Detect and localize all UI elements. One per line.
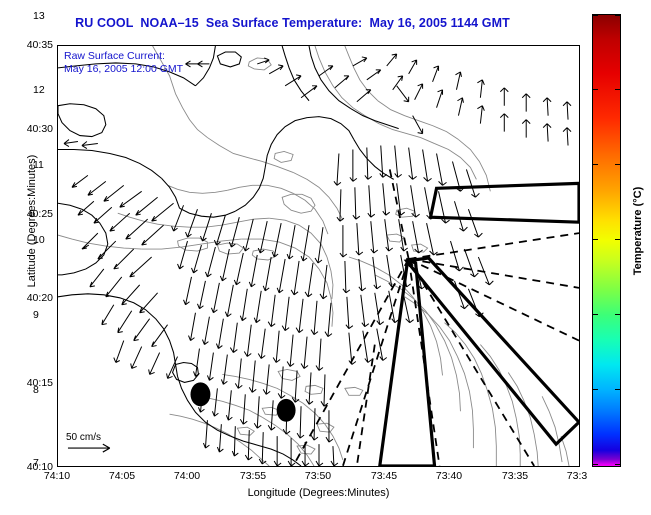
x-tick: 73:3 [547,470,607,482]
y-tick: 40:15 [7,377,53,389]
map-plot-area: Raw Surface Current: May 16, 2005 12:00 … [57,45,580,467]
x-tick: 73:45 [354,470,414,482]
colorbar-tick: 10 [33,234,45,246]
scale-reference-arrow [68,444,110,452]
annotation-line-1: Raw Surface Current: [64,50,165,63]
radar-coverage-wedges [380,183,579,466]
x-tick: 73:55 [223,470,283,482]
radar-station-markers [190,382,295,421]
colorbar [592,14,621,467]
surface-current-vectors [64,54,571,466]
x-tick: 73:35 [485,470,545,482]
x-tick: 73:50 [288,470,348,482]
x-axis-ticks: 74:10 74:05 74:00 73:55 73:50 73:45 73:4… [57,470,580,486]
scale-bar-label: 50 cm/s [66,432,101,443]
y-axis-label: Latitude (Degrees:Minutes) [26,101,38,341]
x-tick: 74:00 [157,470,217,482]
x-tick: 74:10 [27,470,87,482]
colorbar-tick: 11 [33,159,44,171]
colorbar-tick: 7 [33,457,39,469]
x-tick: 74:05 [92,470,152,482]
isotherm-contours [58,46,569,466]
x-axis-label: Longitude (Degrees:Minutes) [57,487,580,499]
map-vector-layer [58,46,579,466]
colorbar-tick: 12 [33,84,45,96]
colorbar-tick: 13 [33,10,45,22]
colorbar-tick: 8 [33,384,39,396]
colorbar-label: Temperature (°C) [632,131,644,331]
annotation-line-2: May 16, 2005 12:00 GMT [64,63,183,76]
figure-title: RU COOL NOAA–15 Sea Surface Temperature:… [0,16,585,30]
colorbar-gradient [593,15,620,466]
x-tick: 73:40 [419,470,479,482]
sst-map-figure: RU COOL NOAA–15 Sea Surface Temperature:… [0,0,651,515]
y-tick: 40:35 [7,39,53,51]
colorbar-tick: 9 [33,309,39,321]
